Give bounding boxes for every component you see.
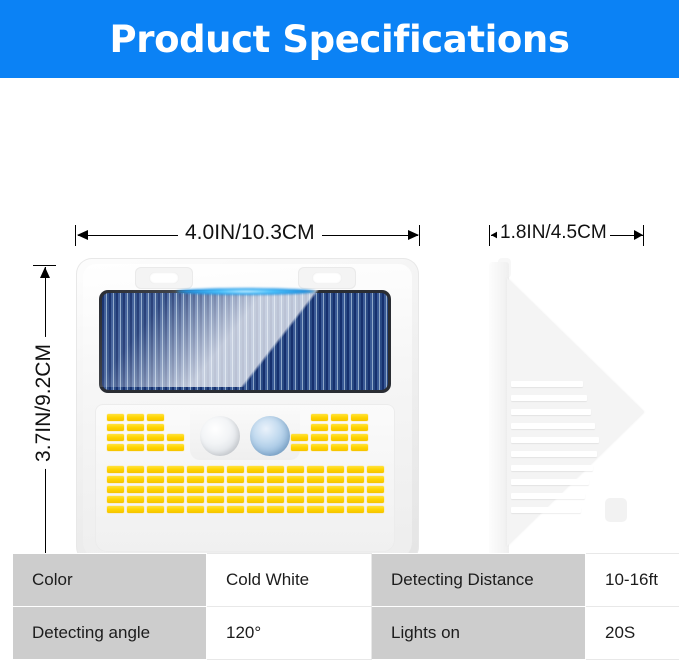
page-header-banner: Product Specifications xyxy=(0,0,679,78)
blue-led-indicator-strip xyxy=(176,288,316,295)
product-diagram: 4.0IN/10.3CM 1.8IN/4.5CM 3.7IN/9.2CM xyxy=(0,78,679,540)
table-row: Detecting angle 120° Lights on 20S xyxy=(13,607,679,660)
height-dimension-label: 3.7IN/9.2CM xyxy=(32,337,56,469)
width-dim-right-tick xyxy=(419,225,420,246)
width-dim-left-tick xyxy=(75,225,76,246)
wall-mount-tab-left xyxy=(135,267,193,289)
spec-key-detecting-distance: Detecting Distance xyxy=(372,554,586,607)
width-dim-right-arrow xyxy=(408,230,419,240)
led-chip-array-left xyxy=(107,414,184,451)
solar-light-side-view xyxy=(489,258,644,566)
height-dim-top-arrow xyxy=(40,267,50,278)
solar-panel xyxy=(99,290,391,393)
side-back-plate xyxy=(489,262,509,562)
spec-key-detecting-angle: Detecting angle xyxy=(13,607,207,660)
depth-dim-right-tick xyxy=(643,225,644,246)
specifications-table: Color Cold White Detecting Distance 10-1… xyxy=(12,553,679,660)
depth-dimension-label: 1.8IN/4.5CM xyxy=(497,222,610,244)
spec-value-detecting-distance: 10-16ft xyxy=(586,554,679,607)
light-sensor-dome xyxy=(200,416,240,456)
page-title: Product Specifications xyxy=(110,18,570,61)
depth-dim-left-tick xyxy=(489,225,490,246)
width-dim-left-arrow xyxy=(77,230,88,240)
spec-value-color: Cold White xyxy=(207,554,372,607)
led-chip-array-bottom xyxy=(107,466,384,513)
led-chip-array-right xyxy=(291,414,368,451)
spec-value-detecting-angle: 120° xyxy=(207,607,372,660)
spec-key-lights-on: Lights on xyxy=(372,607,586,660)
width-dimension-label: 4.0IN/10.3CM xyxy=(178,221,322,245)
wall-mount-tab-right xyxy=(298,267,356,289)
sensor-block xyxy=(190,408,300,460)
pir-motion-sensor xyxy=(250,416,290,456)
side-sensor-bump xyxy=(605,498,627,522)
table-row: Color Cold White Detecting Distance 10-1… xyxy=(13,554,679,607)
spec-key-color: Color xyxy=(13,554,207,607)
solar-light-front-view xyxy=(76,258,419,566)
solar-panel-glare xyxy=(99,290,385,387)
depth-dim-right-arrow xyxy=(634,230,643,240)
led-panel-housing xyxy=(95,404,395,552)
heat-dissipation-fins xyxy=(511,381,606,511)
spec-value-lights-on: 20S xyxy=(586,607,679,660)
height-dim-top-tick xyxy=(33,265,56,266)
